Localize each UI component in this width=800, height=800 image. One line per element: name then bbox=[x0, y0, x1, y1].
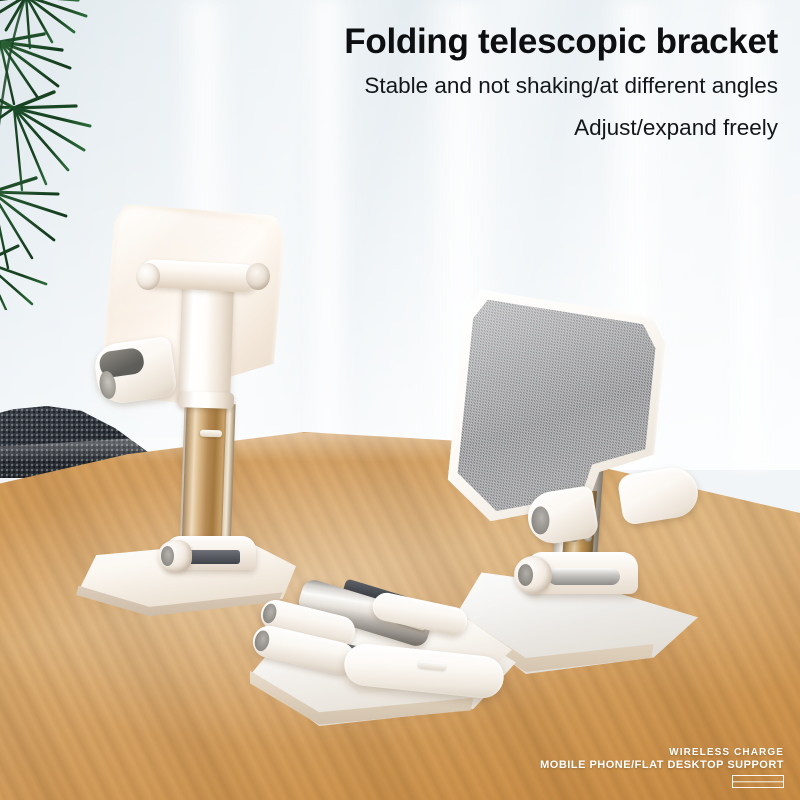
hinge-roller bbox=[158, 540, 192, 572]
headline-block: Folding telescopic bracket Stable and no… bbox=[344, 24, 778, 140]
subtitle-one: Stable and not shaking/at different angl… bbox=[344, 74, 778, 99]
column-slot bbox=[200, 430, 222, 438]
striped-rectangle-logo-icon bbox=[732, 775, 784, 788]
base-hinge-steel bbox=[548, 568, 620, 585]
brand-tagline-support: MOBILE PHONE/FLAT DESKTOP SUPPORT bbox=[540, 759, 784, 771]
page-title: Folding telescopic bracket bbox=[344, 24, 778, 61]
brand-tagline-wireless: WIRELESS CHARGE bbox=[540, 747, 784, 758]
support-lip-right bbox=[617, 464, 702, 526]
product-marketing-image: Folding telescopic bracket Stable and no… bbox=[0, 0, 800, 800]
product-stand-left bbox=[74, 206, 326, 620]
product-stand-folded bbox=[246, 586, 524, 736]
subtitle-two: Adjust/expand freely bbox=[344, 116, 778, 141]
neck-collar bbox=[178, 391, 235, 409]
base-hinge-gap bbox=[188, 550, 240, 564]
neck-tube bbox=[178, 281, 234, 407]
brand-footer: WIRELESS CHARGE MOBILE PHONE/FLAT DESKTO… bbox=[540, 747, 784, 788]
support-lip-left-stand bbox=[92, 336, 178, 406]
